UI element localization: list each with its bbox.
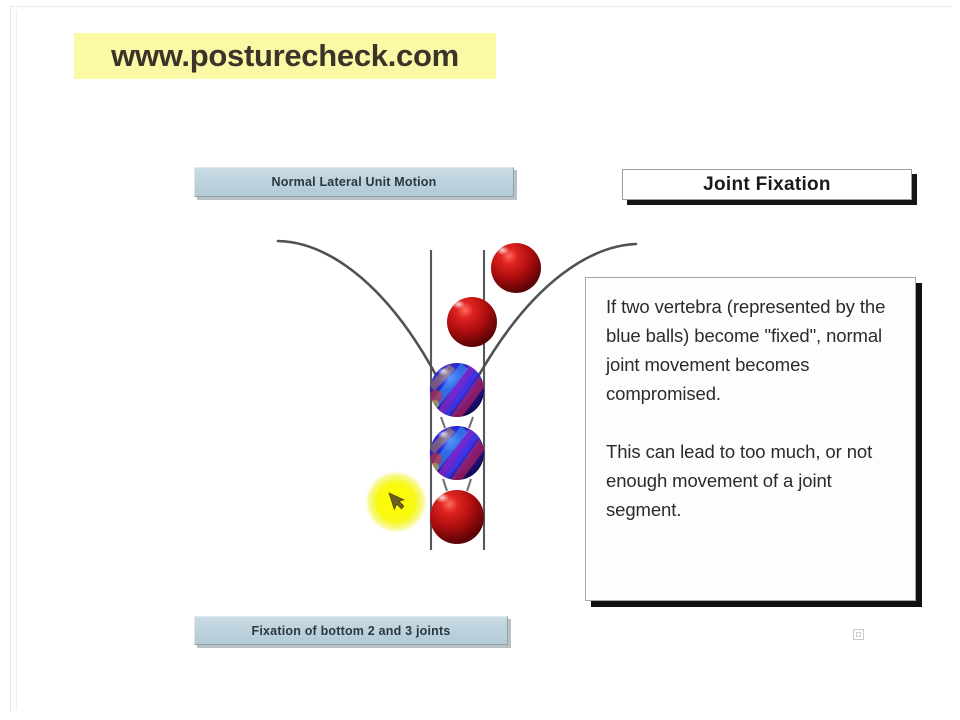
vertebra-ball-red-upper — [447, 297, 497, 347]
vertebra-ball-blue-lower — [429, 425, 485, 489]
vertebra-ball-red-bottom — [430, 490, 484, 544]
placeholder-marker-icon — [853, 629, 864, 640]
vertebra-ball-blue-upper — [429, 362, 485, 426]
motion-curve-left — [278, 241, 437, 377]
normal-motion-label-text: Normal Lateral Unit Motion — [272, 175, 437, 189]
joint-fixation-title-box: Joint Fixation — [622, 169, 912, 200]
site-url-banner: www.posturecheck.com — [74, 33, 496, 79]
spine-diagram — [265, 225, 665, 570]
fixation-label-text: Fixation of bottom 2 and 3 joints — [252, 624, 451, 638]
normal-motion-label[interactable]: Normal Lateral Unit Motion — [194, 167, 514, 197]
vertebra-ball-red-top — [491, 243, 541, 293]
site-url-text: www.posturecheck.com — [111, 38, 459, 74]
page-title: Joint Fixation — [703, 174, 831, 196]
slide-canvas: www.posturecheck.com Normal Lateral Unit… — [0, 0, 960, 720]
fixation-label[interactable]: Fixation of bottom 2 and 3 joints — [194, 616, 508, 645]
